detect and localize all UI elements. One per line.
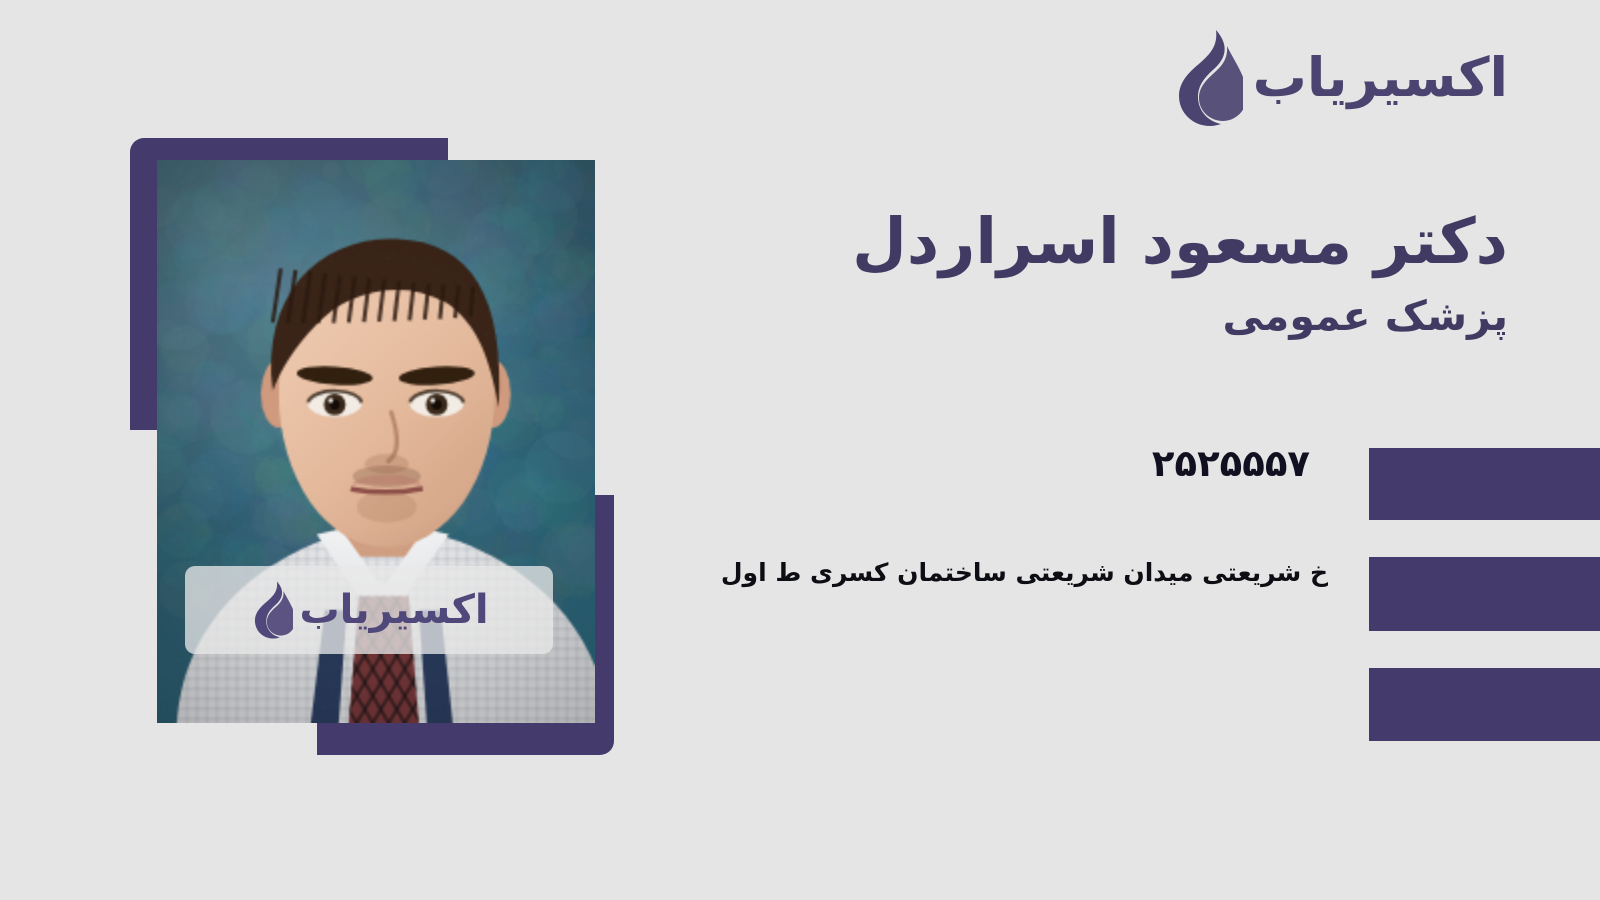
doctor-name: دکتر مسعود اسراردل: [808, 205, 1508, 279]
doctor-profile-card: اکسیریاب اکسیریاب دکتر مسعود اسراردل پزش…: [0, 0, 1600, 900]
doctor-address: خ شریعتی میدان شریعتی ساختمان کسری ط اول: [721, 558, 1328, 587]
brand-logo-wordmark: اکسیریاب: [1253, 51, 1508, 105]
brand-logo[interactable]: اکسیریاب: [1169, 28, 1508, 128]
doctor-specialty: پزشک عمومی: [808, 289, 1508, 344]
doctor-phone-number[interactable]: ۲۵۲۵۵۵۷: [1152, 442, 1310, 485]
doctor-info-column: دکتر مسعود اسراردل پزشک عمومی: [808, 205, 1508, 345]
flame-droplet-icon: [1169, 30, 1243, 126]
accent-bar-1: [1369, 448, 1600, 520]
accent-bar-3: [1369, 668, 1600, 741]
doctor-portrait-image: [157, 160, 595, 723]
photo-composition: اکسیریاب: [0, 0, 700, 900]
doctor-portrait: [157, 160, 595, 723]
accent-bar-2: [1369, 557, 1600, 631]
